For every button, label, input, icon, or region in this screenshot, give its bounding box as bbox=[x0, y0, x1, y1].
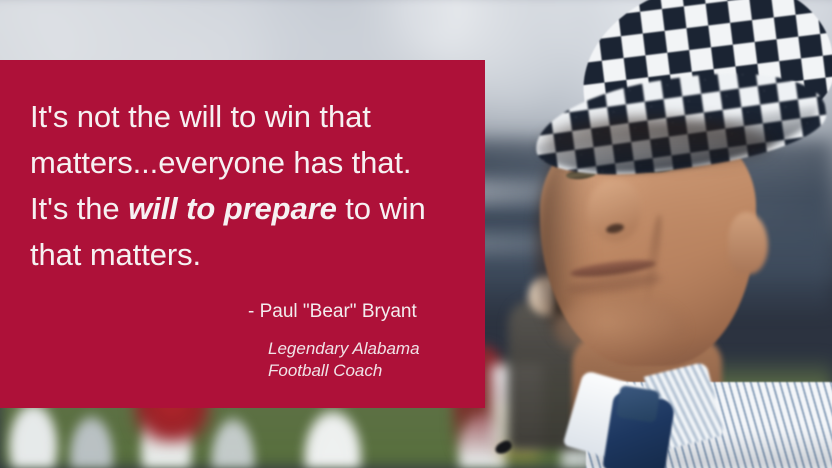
attribution-block: - Paul "Bear" Bryant Legendary Alabama F… bbox=[30, 300, 445, 382]
jowl bbox=[554, 296, 686, 362]
quote-text: It's not the will to win that matters...… bbox=[30, 94, 445, 278]
quote-emphasis: will to prepare bbox=[128, 191, 337, 226]
quote-line-1: It's not the will to win that bbox=[30, 99, 371, 134]
quote-line-3-before: It's the bbox=[30, 191, 128, 226]
quote-line-2: matters...everyone has that. bbox=[30, 145, 411, 180]
quote-line-3-after: to win bbox=[337, 191, 426, 226]
sub-attribution: Legendary Alabama Football Coach bbox=[268, 338, 445, 382]
quote-panel: It's not the will to win that matters...… bbox=[0, 60, 485, 408]
ear bbox=[728, 212, 768, 274]
quote-slide: It's not the will to win that matters...… bbox=[0, 0, 832, 468]
coach-portrait bbox=[532, 0, 832, 468]
hat-cast-shadow bbox=[542, 118, 772, 170]
quote-line-4: that matters. bbox=[30, 237, 201, 272]
necktie-knot bbox=[616, 385, 661, 423]
attribution: - Paul "Bear" Bryant bbox=[248, 300, 445, 324]
